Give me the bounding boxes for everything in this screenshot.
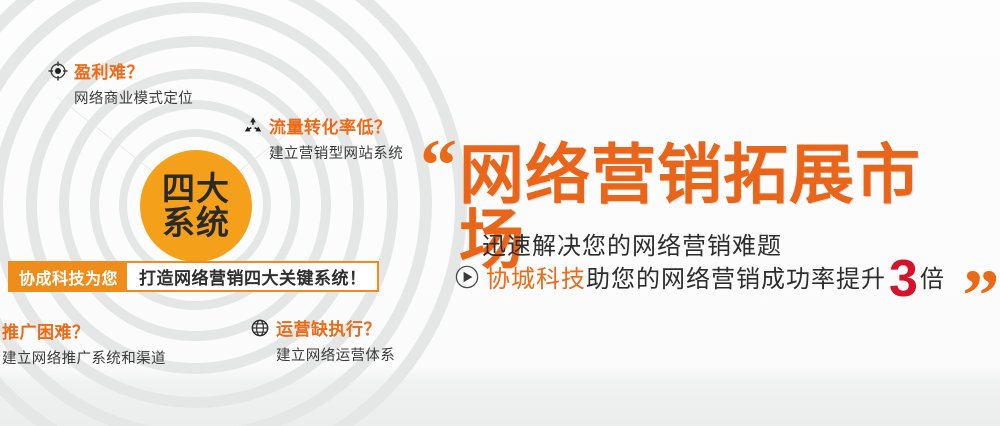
feature-profit: 盈利难？ 网络商业模式定位 bbox=[48, 58, 193, 108]
feature-profit-title: 盈利难？ bbox=[74, 58, 144, 83]
marketing-banner: 四大 系统 盈利难？ 网络商业模式定位 bbox=[0, 0, 1000, 426]
globe-icon bbox=[250, 318, 270, 338]
quote-open-mark: “ bbox=[420, 138, 457, 196]
subheadline-brand: 协城科技 bbox=[486, 259, 586, 294]
center-disc-line1: 四大 bbox=[162, 172, 230, 206]
slogan-bar: 协成科技为您 打造网络营销四大关键系统！ bbox=[8, 261, 379, 292]
feature-profit-sub: 网络商业模式定位 bbox=[74, 87, 193, 108]
slogan-message: 打造网络营销四大关键系统！ bbox=[127, 263, 377, 290]
subheadline-line1: 迅速解决您的网络营销难题 bbox=[482, 226, 782, 261]
recycle-icon bbox=[243, 116, 263, 136]
feature-conversion: 流量转化率低？ 建立营销型网站系统 bbox=[243, 113, 403, 163]
feature-operation: 运营缺执行？ 建立网络运营体系 bbox=[250, 315, 395, 365]
center-disc: 四大 系统 bbox=[140, 150, 252, 262]
feature-promotion: 推广困难？ 建立网络推广系统和渠道 bbox=[2, 318, 166, 368]
subheadline-line2: 协城科技 助您的网络营销成功率提升 3 倍 bbox=[455, 258, 945, 295]
slogan-brand: 协成科技为您 bbox=[10, 263, 127, 290]
play-circle-icon bbox=[455, 265, 479, 289]
feature-promotion-title: 推广困难？ bbox=[2, 318, 90, 343]
center-disc-line2: 系统 bbox=[162, 206, 230, 240]
feature-operation-sub: 建立网络运营体系 bbox=[276, 344, 395, 365]
feature-operation-title: 运营缺执行？ bbox=[276, 315, 381, 340]
subheadline-multiplier: 3 bbox=[889, 261, 919, 298]
crosshair-target-icon bbox=[48, 61, 68, 81]
feature-promotion-sub: 建立网络推广系统和渠道 bbox=[2, 347, 166, 368]
feature-conversion-title: 流量转化率低？ bbox=[269, 113, 392, 138]
feature-conversion-sub: 建立营销型网站系统 bbox=[269, 142, 403, 163]
subheadline-unit: 倍 bbox=[920, 259, 945, 294]
quote-close-mark: „ bbox=[963, 244, 1000, 272]
subheadline-middle: 助您的网络营销成功率提升 bbox=[586, 259, 886, 294]
